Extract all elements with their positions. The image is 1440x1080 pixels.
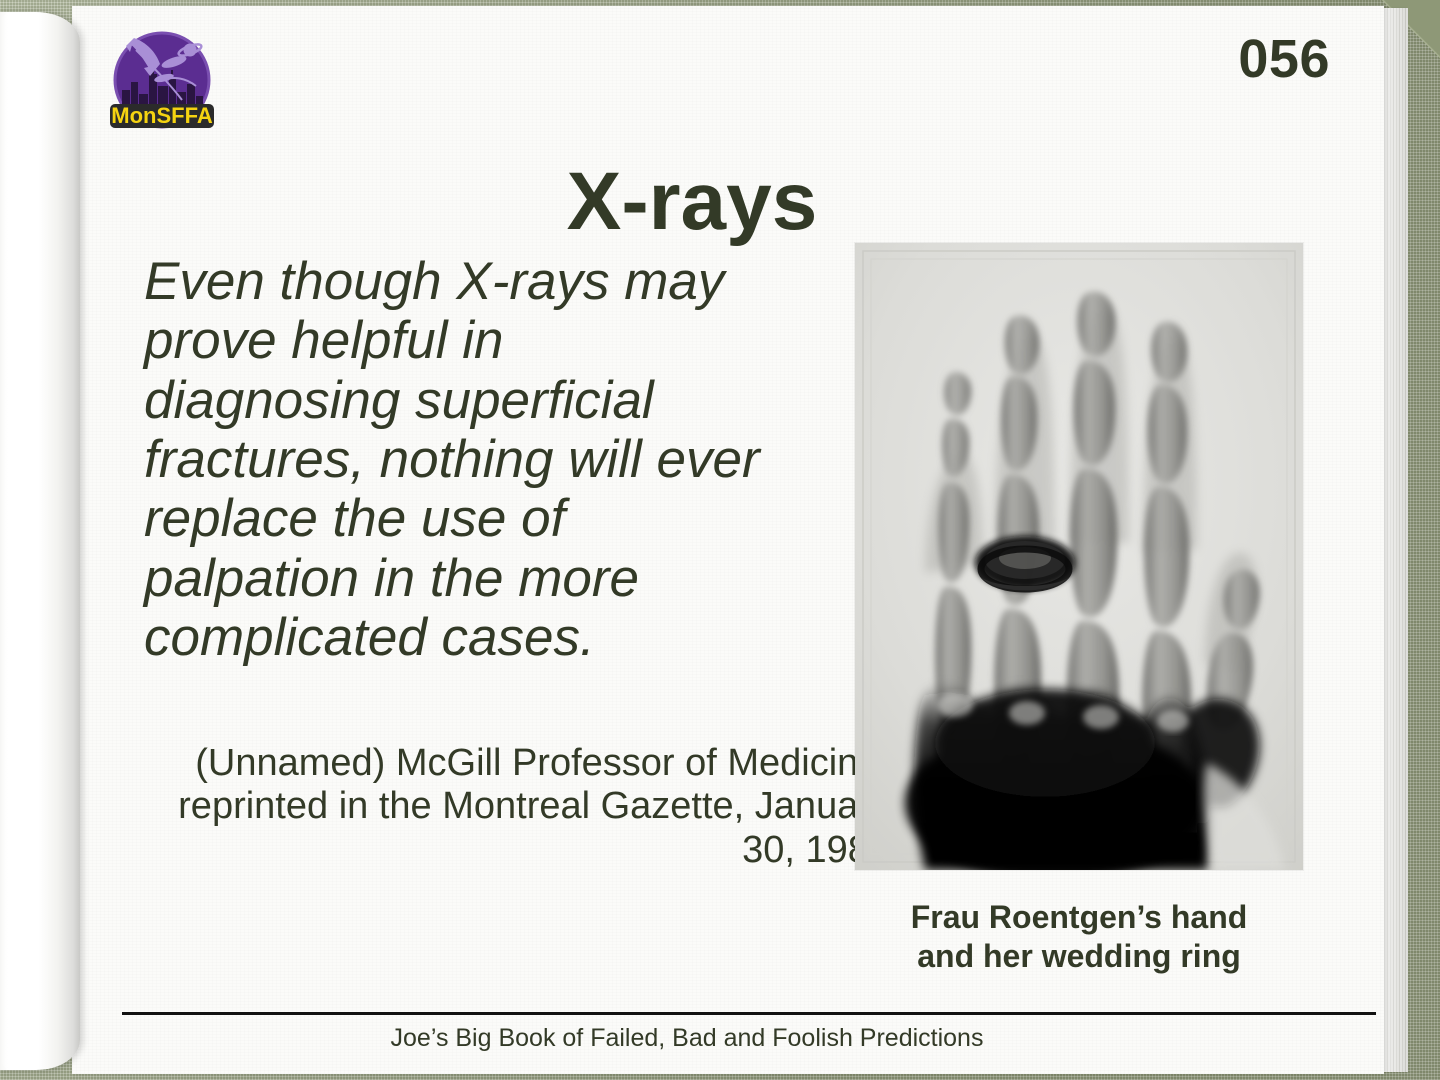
monsffa-logo[interactable]: MonSFFA [100, 28, 224, 138]
footer-divider [122, 1012, 1376, 1015]
page-curl-highlight [0, 12, 26, 1070]
page-curl[interactable] [0, 12, 80, 1070]
quote-attribution: (Unnamed) McGill Professor of Medicine, … [134, 742, 890, 872]
footer-text: Joe’s Big Book of Failed, Bad and Foolis… [72, 1024, 1302, 1053]
figure-caption-line1: Frau Roentgen’s hand [855, 898, 1303, 937]
quote-text: Even though X-rays may prove helpful in … [144, 252, 774, 668]
page-number: 056 [1238, 32, 1330, 86]
slide-content: MonSFFA 056 X-rays Even though X-rays ma… [72, 0, 1384, 1080]
slide-stage: MonSFFA 056 X-rays Even though X-rays ma… [0, 0, 1440, 1080]
figure-caption-line2: and her wedding ring [855, 937, 1303, 976]
xray-image [855, 243, 1303, 870]
page-title: X-rays [72, 159, 1312, 245]
xray-hand-icon [855, 243, 1303, 870]
monsffa-wordmark: MonSFFA [111, 103, 213, 128]
figure-caption: Frau Roentgen’s hand and her wedding rin… [855, 898, 1303, 976]
monsffa-logo-icon: MonSFFA [100, 28, 224, 138]
